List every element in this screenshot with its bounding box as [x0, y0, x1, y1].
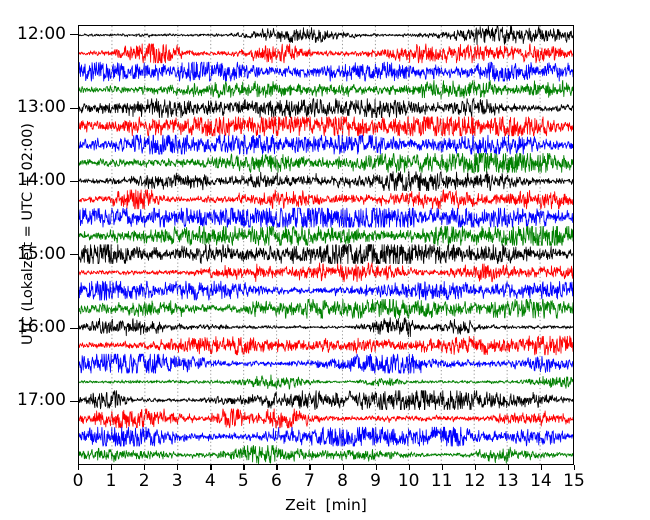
y-tick-mark-1300 — [70, 108, 78, 109]
x-tick-mark-9 — [376, 465, 377, 470]
trace-1715 — [79, 409, 573, 428]
trace-1200 — [79, 26, 573, 45]
trace-1500 — [79, 245, 573, 264]
x-tick-mark-8 — [343, 465, 344, 470]
y-tick-mark-1600 — [70, 328, 78, 329]
trace-1645 — [79, 375, 573, 389]
x-tick-mark-5 — [243, 465, 244, 470]
trace-1630 — [79, 354, 573, 373]
x-tick-mark-15 — [574, 465, 575, 470]
y-tick-mark-1700 — [70, 401, 78, 402]
x-tick-mark-11 — [442, 465, 443, 470]
x-axis-title: Zeit [min] — [78, 496, 574, 514]
x-tick-mark-0 — [78, 465, 79, 470]
y-tick-label-1200: 12:00 — [17, 26, 66, 43]
plot-area — [78, 25, 574, 465]
trace-1730 — [79, 427, 573, 446]
x-tick-mark-10 — [409, 465, 410, 470]
trace-1430 — [79, 208, 573, 227]
x-tick-mark-14 — [541, 465, 542, 470]
trace-1245 — [79, 80, 573, 99]
trace-1415 — [79, 190, 573, 209]
trace-1745 — [79, 445, 573, 464]
trace-1330 — [79, 135, 573, 154]
trace-1400 — [79, 172, 573, 191]
trace-1300 — [79, 99, 573, 118]
trace-1315 — [79, 117, 573, 136]
trace-1215 — [79, 44, 573, 63]
x-tick-mark-13 — [508, 465, 509, 470]
x-tick-mark-3 — [177, 465, 178, 470]
y-tick-label-1700: 17:00 — [17, 392, 66, 409]
trace-1615 — [79, 336, 573, 355]
y-tick-mark-1500 — [70, 254, 78, 255]
trace-1530 — [79, 281, 573, 300]
x-tick-mark-7 — [309, 465, 310, 470]
trace-1515 — [79, 263, 573, 282]
x-tick-mark-6 — [276, 465, 277, 470]
trace-1445 — [79, 226, 573, 245]
x-tick-mark-4 — [210, 465, 211, 470]
x-tick-mark-12 — [475, 465, 476, 470]
x-tick-mark-1 — [111, 465, 112, 470]
trace-1600 — [79, 318, 573, 337]
y-tick-mark-1200 — [70, 34, 78, 35]
x-tick-mark-2 — [144, 465, 145, 470]
trace-1545 — [79, 299, 573, 318]
y-tick-mark-1400 — [70, 181, 78, 182]
trace-1345 — [79, 153, 573, 172]
y-axis-title: UTC (Lokalzeit = UTC + 02:00) — [20, 84, 36, 384]
seismogram-traces — [79, 26, 573, 464]
trace-1700 — [79, 391, 573, 410]
seismogram-figure: 12:0013:0014:0015:0016:0017:00 UTC (Loka… — [0, 0, 650, 520]
x-tick-label-15: 15 — [554, 473, 594, 490]
trace-1230 — [79, 62, 573, 81]
